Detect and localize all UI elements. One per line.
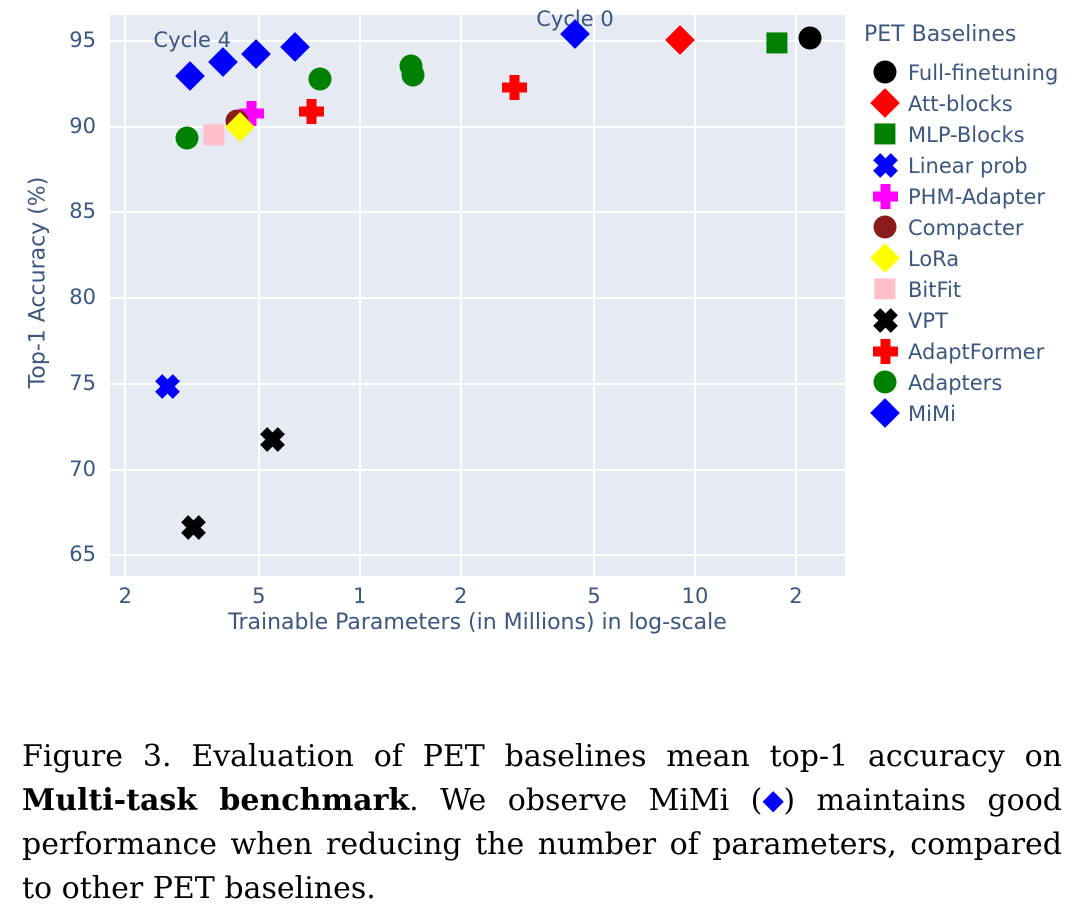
circle-marker-icon — [874, 371, 897, 394]
data-point-att-blocks — [665, 25, 695, 55]
figure-3: Top-1 Accuracy (%) 65707580859095 Cycle … — [0, 0, 1080, 700]
caption-part1: Evaluation of PET baselines mean top-1 a… — [191, 739, 1062, 774]
legend-marker-wrap — [862, 305, 908, 336]
legend-item-label: MLP-Blocks — [908, 123, 1025, 147]
gridline-y-80 — [110, 297, 845, 299]
data-point-mimi — [208, 47, 238, 77]
legend-item-label: Full-finetuning — [908, 61, 1058, 85]
legend-marker-wrap — [862, 367, 908, 398]
legend-marker-wrap — [862, 57, 908, 88]
y-tick-label: 80 — [34, 287, 96, 308]
y-tick-label: 90 — [34, 116, 96, 137]
legend-item-label: Adapters — [908, 371, 1002, 395]
mimi-diamond-icon — [763, 791, 784, 812]
legend-item-label: Att-blocks — [908, 92, 1013, 116]
legend-item-label: MiMi — [908, 402, 956, 426]
x-tick-label: 10 — [675, 586, 715, 607]
data-point-adaptformer — [299, 99, 324, 124]
legend-marker-wrap — [862, 398, 908, 429]
gridline-x-10 — [694, 15, 696, 576]
x-tick-label: 5 — [574, 586, 614, 607]
legend-item-bitfit[interactable]: BitFit — [862, 274, 1080, 305]
x-tick-label: 2 — [776, 586, 816, 607]
figure-caption: Figure 3. Evaluation of PET baselines me… — [22, 735, 1062, 911]
circle-marker-icon — [874, 61, 897, 84]
legend-marker-wrap — [862, 119, 908, 150]
plus-marker-icon — [873, 184, 898, 209]
legend-item-linear-prob[interactable]: Linear prob — [862, 150, 1080, 181]
legend-item-label: BitFit — [908, 278, 961, 302]
data-point-adapters — [401, 64, 424, 87]
gridline-x-20 — [795, 15, 797, 576]
square-marker-icon — [874, 123, 895, 144]
circle-marker-icon — [874, 216, 897, 239]
data-point-adapters — [308, 68, 331, 91]
legend-item-label: LoRa — [908, 247, 959, 271]
x-tick-label: 1 — [340, 586, 380, 607]
data-point-mimi — [241, 39, 271, 69]
legend-item-compacter[interactable]: Compacter — [862, 212, 1080, 243]
legend-item-label: Compacter — [908, 216, 1024, 240]
caption-bold-benchmark: Multi-task benchmark — [22, 783, 409, 818]
legend-items: Full-finetuningAtt-blocksMLP-BlocksLinea… — [862, 57, 1080, 429]
data-point-vpt — [181, 515, 206, 540]
y-tick-label: 70 — [34, 459, 96, 480]
legend-item-label: VPT — [908, 309, 948, 333]
data-point-mimi — [280, 32, 310, 62]
legend-title: PET Baselines — [864, 22, 1080, 47]
gridline-x-1 — [359, 15, 361, 576]
gridline-y-75 — [110, 383, 845, 385]
y-tick-label: 95 — [34, 30, 96, 51]
gridline-y-70 — [110, 469, 845, 471]
legend-marker-wrap — [862, 336, 908, 367]
gridline-x-0.5 — [258, 15, 260, 576]
legend-marker-wrap — [862, 181, 908, 212]
data-point-vpt — [260, 427, 285, 452]
x-axis-title: Trainable Parameters (in Millions) in lo… — [0, 610, 955, 635]
legend-item-full-finetuning[interactable]: Full-finetuning — [862, 57, 1080, 88]
diamond-marker-icon — [870, 243, 900, 273]
x-tick-label: 5 — [239, 586, 279, 607]
legend-item-label: AdaptFormer — [908, 340, 1044, 364]
legend-marker-wrap — [862, 88, 908, 119]
legend-item-phm-adapter[interactable]: PHM-Adapter — [862, 181, 1080, 212]
data-point-mimi — [175, 61, 205, 91]
gridline-y-65 — [110, 554, 845, 556]
y-tick-label: 65 — [34, 544, 96, 565]
legend-marker-wrap — [862, 150, 908, 181]
caption-part2: . We observe MiMi ( — [409, 783, 762, 818]
diamond-marker-icon — [870, 88, 900, 118]
gridline-x-2 — [460, 15, 462, 576]
legend-item-lora[interactable]: LoRa — [862, 243, 1080, 274]
legend: PET Baselines Full-finetuningAtt-blocksM… — [862, 22, 1080, 429]
legend-item-mlp-blocks[interactable]: MLP-Blocks — [862, 119, 1080, 150]
square-marker-icon — [874, 278, 895, 299]
legend-item-att-blocks[interactable]: Att-blocks — [862, 88, 1080, 119]
y-tick-label: 75 — [34, 373, 96, 394]
legend-marker-wrap — [862, 243, 908, 274]
legend-item-label: Linear prob — [908, 154, 1028, 178]
legend-marker-wrap — [862, 274, 908, 305]
data-point-linear-prob — [155, 374, 180, 399]
plus-marker-icon — [873, 339, 898, 364]
x-tick-label: 2 — [105, 586, 145, 607]
cross-marker-icon — [873, 153, 898, 178]
legend-item-mimi[interactable]: MiMi — [862, 398, 1080, 429]
data-point-adaptformer — [502, 75, 527, 100]
y-tick-label: 85 — [34, 201, 96, 222]
x-tick-label: 2 — [441, 586, 481, 607]
gridline-x-0.2 — [124, 15, 126, 576]
data-point-bitfit — [204, 125, 225, 146]
cross-marker-icon — [873, 308, 898, 333]
legend-item-vpt[interactable]: VPT — [862, 305, 1080, 336]
data-point-adapters — [175, 126, 198, 149]
diamond-marker-icon — [870, 398, 900, 428]
gridline-y-85 — [110, 211, 845, 213]
data-point-mlp-blocks — [766, 33, 787, 54]
plot-area: Cycle 4Cycle 0 — [110, 15, 845, 576]
annotation-cycle-4: Cycle 4 — [154, 30, 231, 51]
data-point-full-finetuning — [798, 27, 821, 50]
legend-item-label: PHM-Adapter — [908, 185, 1045, 209]
legend-item-adapters[interactable]: Adapters — [862, 367, 1080, 398]
gridline-x-5 — [593, 15, 595, 576]
caption-figure-number: Figure 3. — [22, 739, 171, 774]
legend-item-adaptformer[interactable]: AdaptFormer — [862, 336, 1080, 367]
legend-marker-wrap — [862, 212, 908, 243]
y-axis-title: Top-1 Accuracy (%) — [26, 33, 51, 533]
